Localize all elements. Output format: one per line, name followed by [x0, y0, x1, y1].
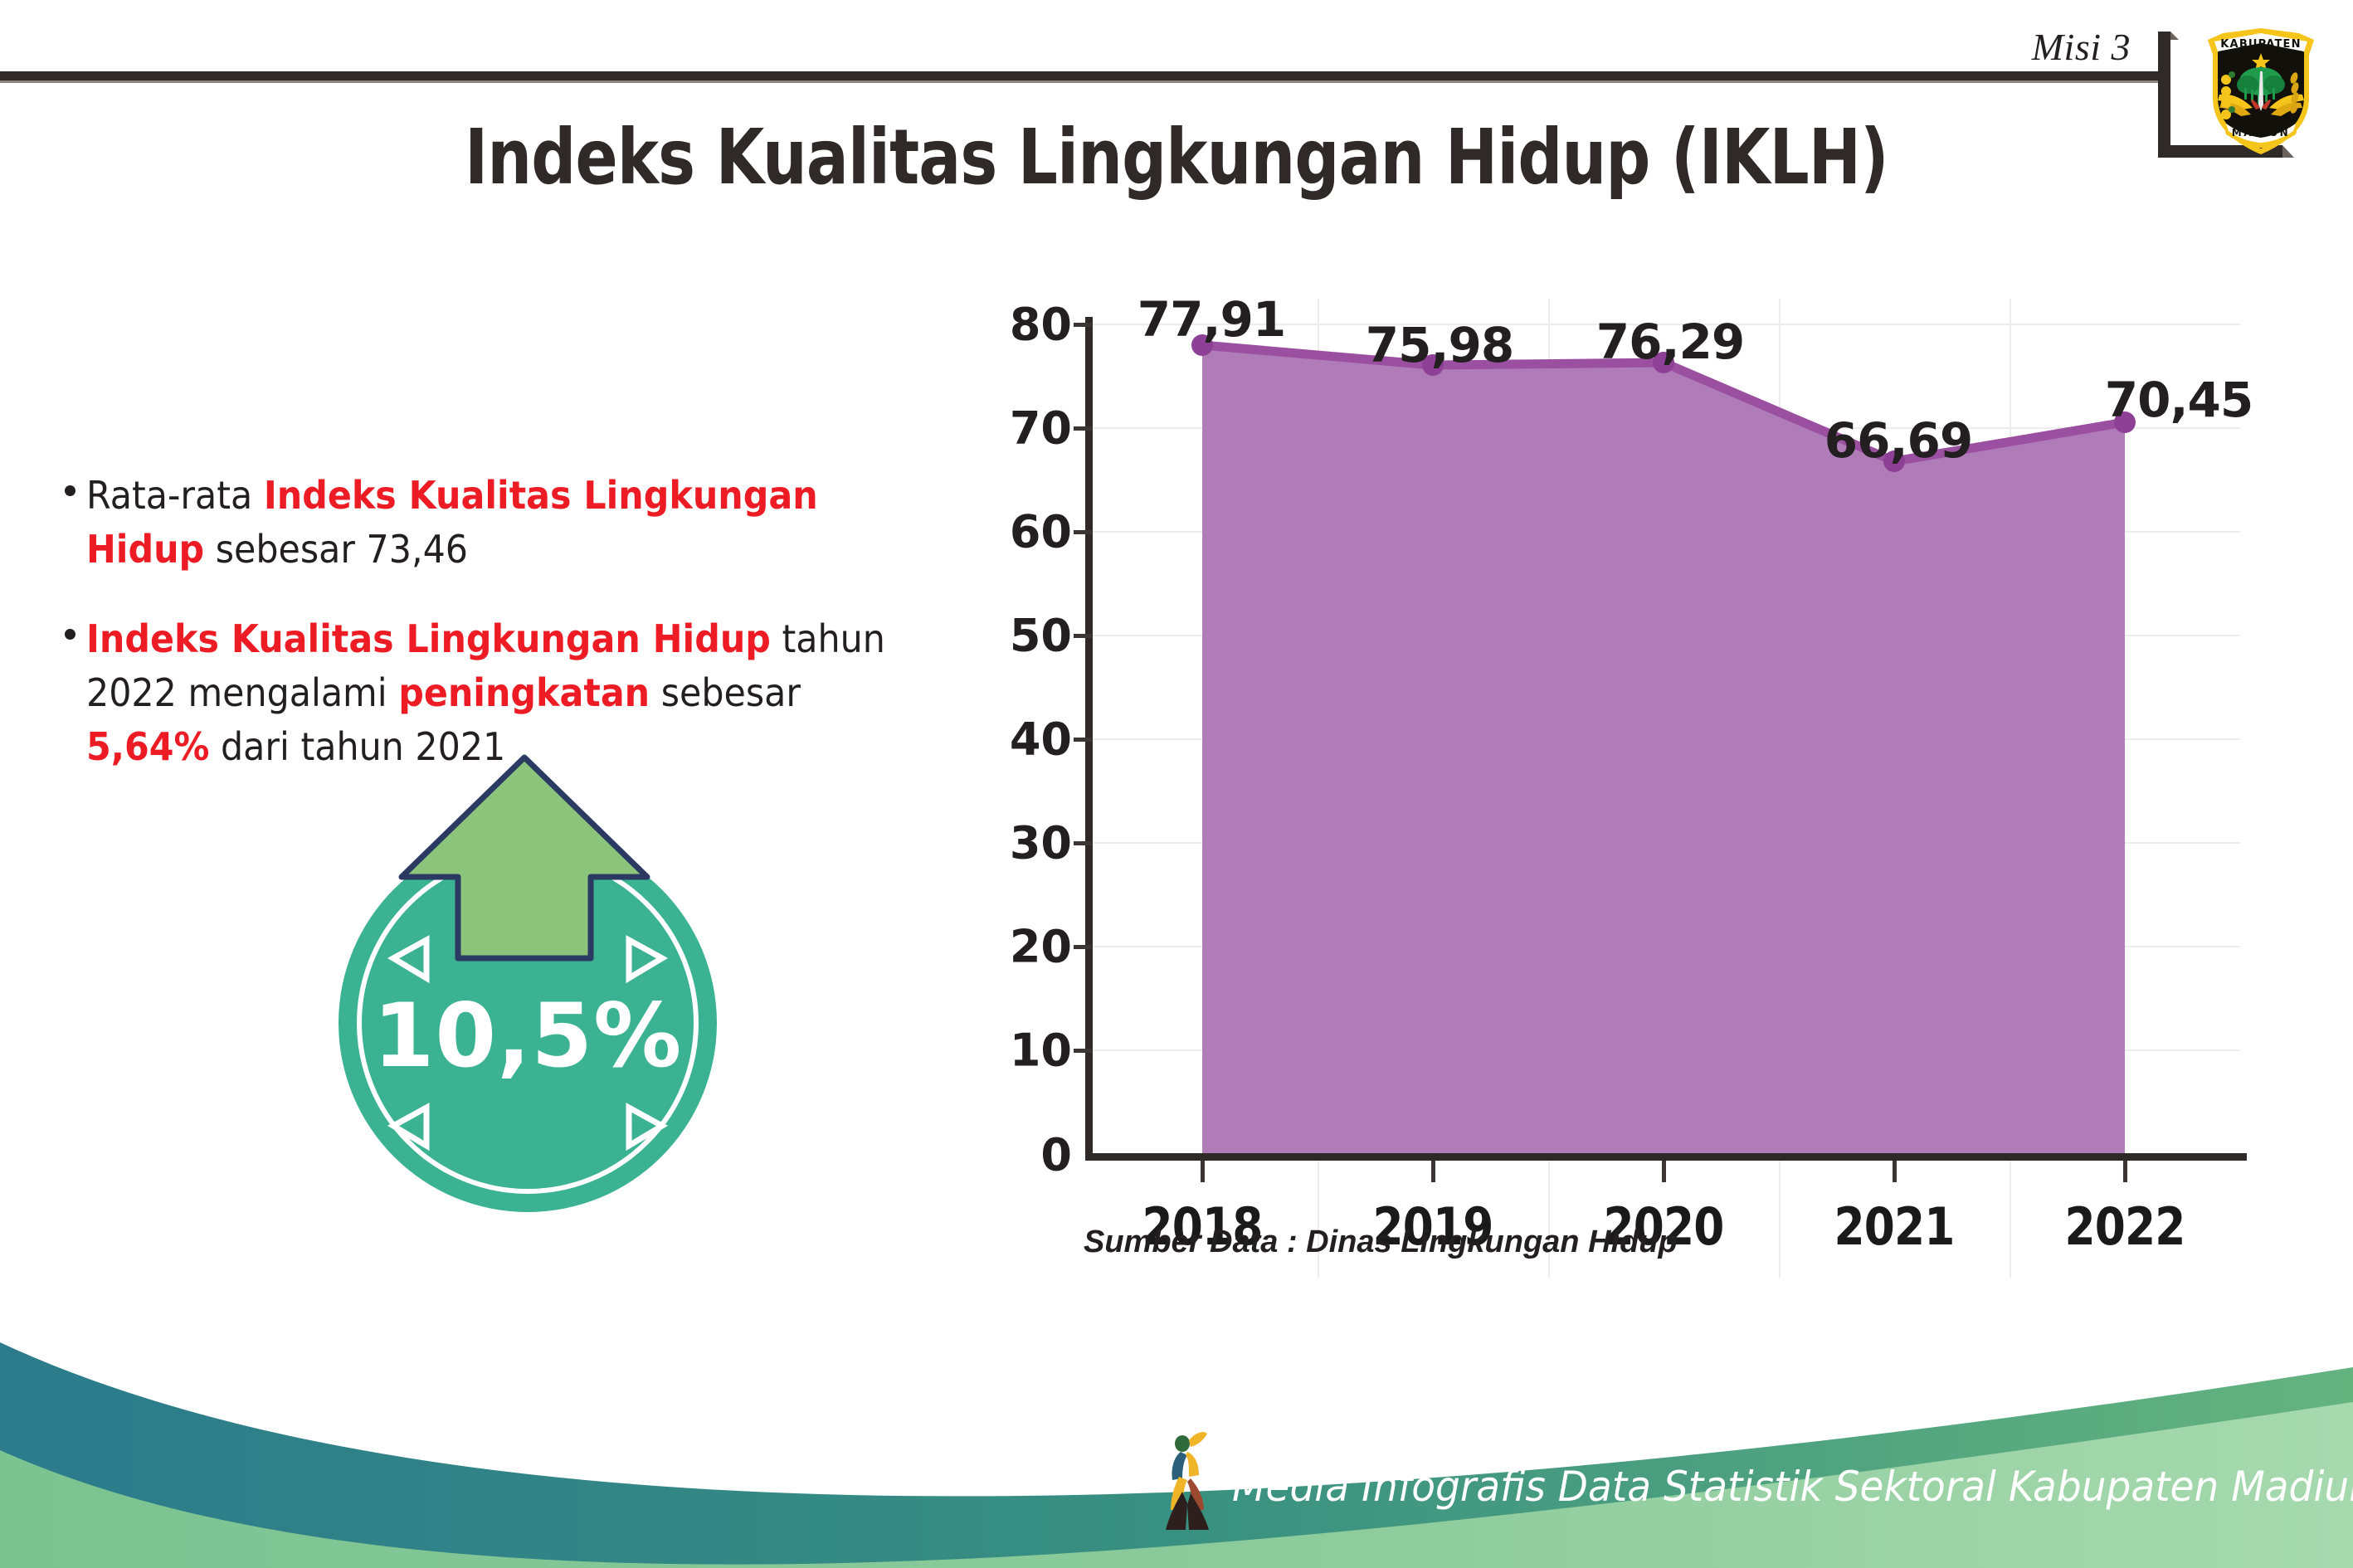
y-axis-label-10: 10 — [1010, 1025, 1072, 1077]
bullet-1-seg-2: sebesar 73,46 — [204, 527, 468, 572]
bullet-2-seg-0: Indeks Kualitas Lingkungan Hidup — [86, 616, 771, 661]
x-axis-label-2022: 2022 — [2065, 1196, 2185, 1257]
kabupaten-madiun-crest-icon: KABUPATEN — [2195, 18, 2327, 158]
mascot-icon — [1157, 1427, 1227, 1535]
infographic-slide: Misi 3 KABUPATEN — [0, 0, 2353, 1568]
y-axis-label-70: 70 — [1010, 402, 1072, 455]
data-label-2021: 66,69 — [1824, 412, 1972, 469]
y-axis-label-30: 30 — [1010, 817, 1072, 869]
bullet-dot-icon — [65, 485, 76, 496]
header-divider-line — [0, 71, 2158, 80]
x-tick-2018 — [1201, 1161, 1205, 1182]
bullet-item-average: Rata-rata Indeks Kualitas Lingkungan Hid… — [65, 469, 961, 577]
x-tick-2019 — [1431, 1161, 1435, 1182]
data-label-2020: 76,29 — [1596, 314, 1744, 370]
mission-label: Misi 3 — [2032, 25, 2131, 69]
page-title: Indeks Kualitas Lingkungan Hidup (IKLH) — [212, 113, 2141, 202]
badge-value: 10,5% — [339, 985, 717, 1087]
x-axis-line — [1085, 1153, 2247, 1161]
data-point-markers — [1087, 324, 2240, 1153]
data-label-2019: 75,98 — [1366, 317, 1513, 373]
y-axis-label-60: 60 — [1010, 506, 1072, 558]
x-tick-2021 — [1893, 1161, 1897, 1182]
bullet-1-seg-0: Rata-rata — [86, 473, 264, 518]
bullet-2-seg-3: sebesar — [650, 670, 801, 715]
svg-text:MADIUN: MADIUN — [2232, 127, 2290, 139]
bullet-2-seg-4: 5,64% — [86, 724, 209, 769]
y-axis-label-0: 0 — [1040, 1129, 1072, 1181]
footer-caption: Media Infografis Data Statistik Sektoral… — [1232, 1463, 2353, 1511]
y-axis-label-40: 40 — [1010, 713, 1072, 766]
x-axis-label-2021: 2021 — [1834, 1196, 1955, 1257]
y-axis-label-80: 80 — [1010, 299, 1072, 351]
y-axis-label-20: 20 — [1010, 921, 1072, 973]
percentage-badge: 10,5% — [325, 751, 740, 1207]
bullet-dot-icon — [65, 629, 76, 640]
svg-text:KABUPATEN: KABUPATEN — [2220, 38, 2301, 51]
y-axis-label-50: 50 — [1010, 610, 1072, 662]
bullet-2-seg-2: peningkatan — [398, 670, 650, 715]
x-tick-2022 — [2123, 1161, 2127, 1182]
x-tick-2020 — [1662, 1161, 1666, 1182]
arrow-up-icon — [383, 751, 665, 1000]
iklh-area-chart: 80 70 60 50 40 30 20 10 0 77,91 75,98 76… — [987, 299, 2282, 1278]
data-label-2018: 77,91 — [1138, 291, 1285, 348]
data-label-2022: 70,45 — [2105, 372, 2253, 428]
source-note: Sumber Data : Dinas Lingkungan Hidup — [1084, 1225, 1678, 1260]
